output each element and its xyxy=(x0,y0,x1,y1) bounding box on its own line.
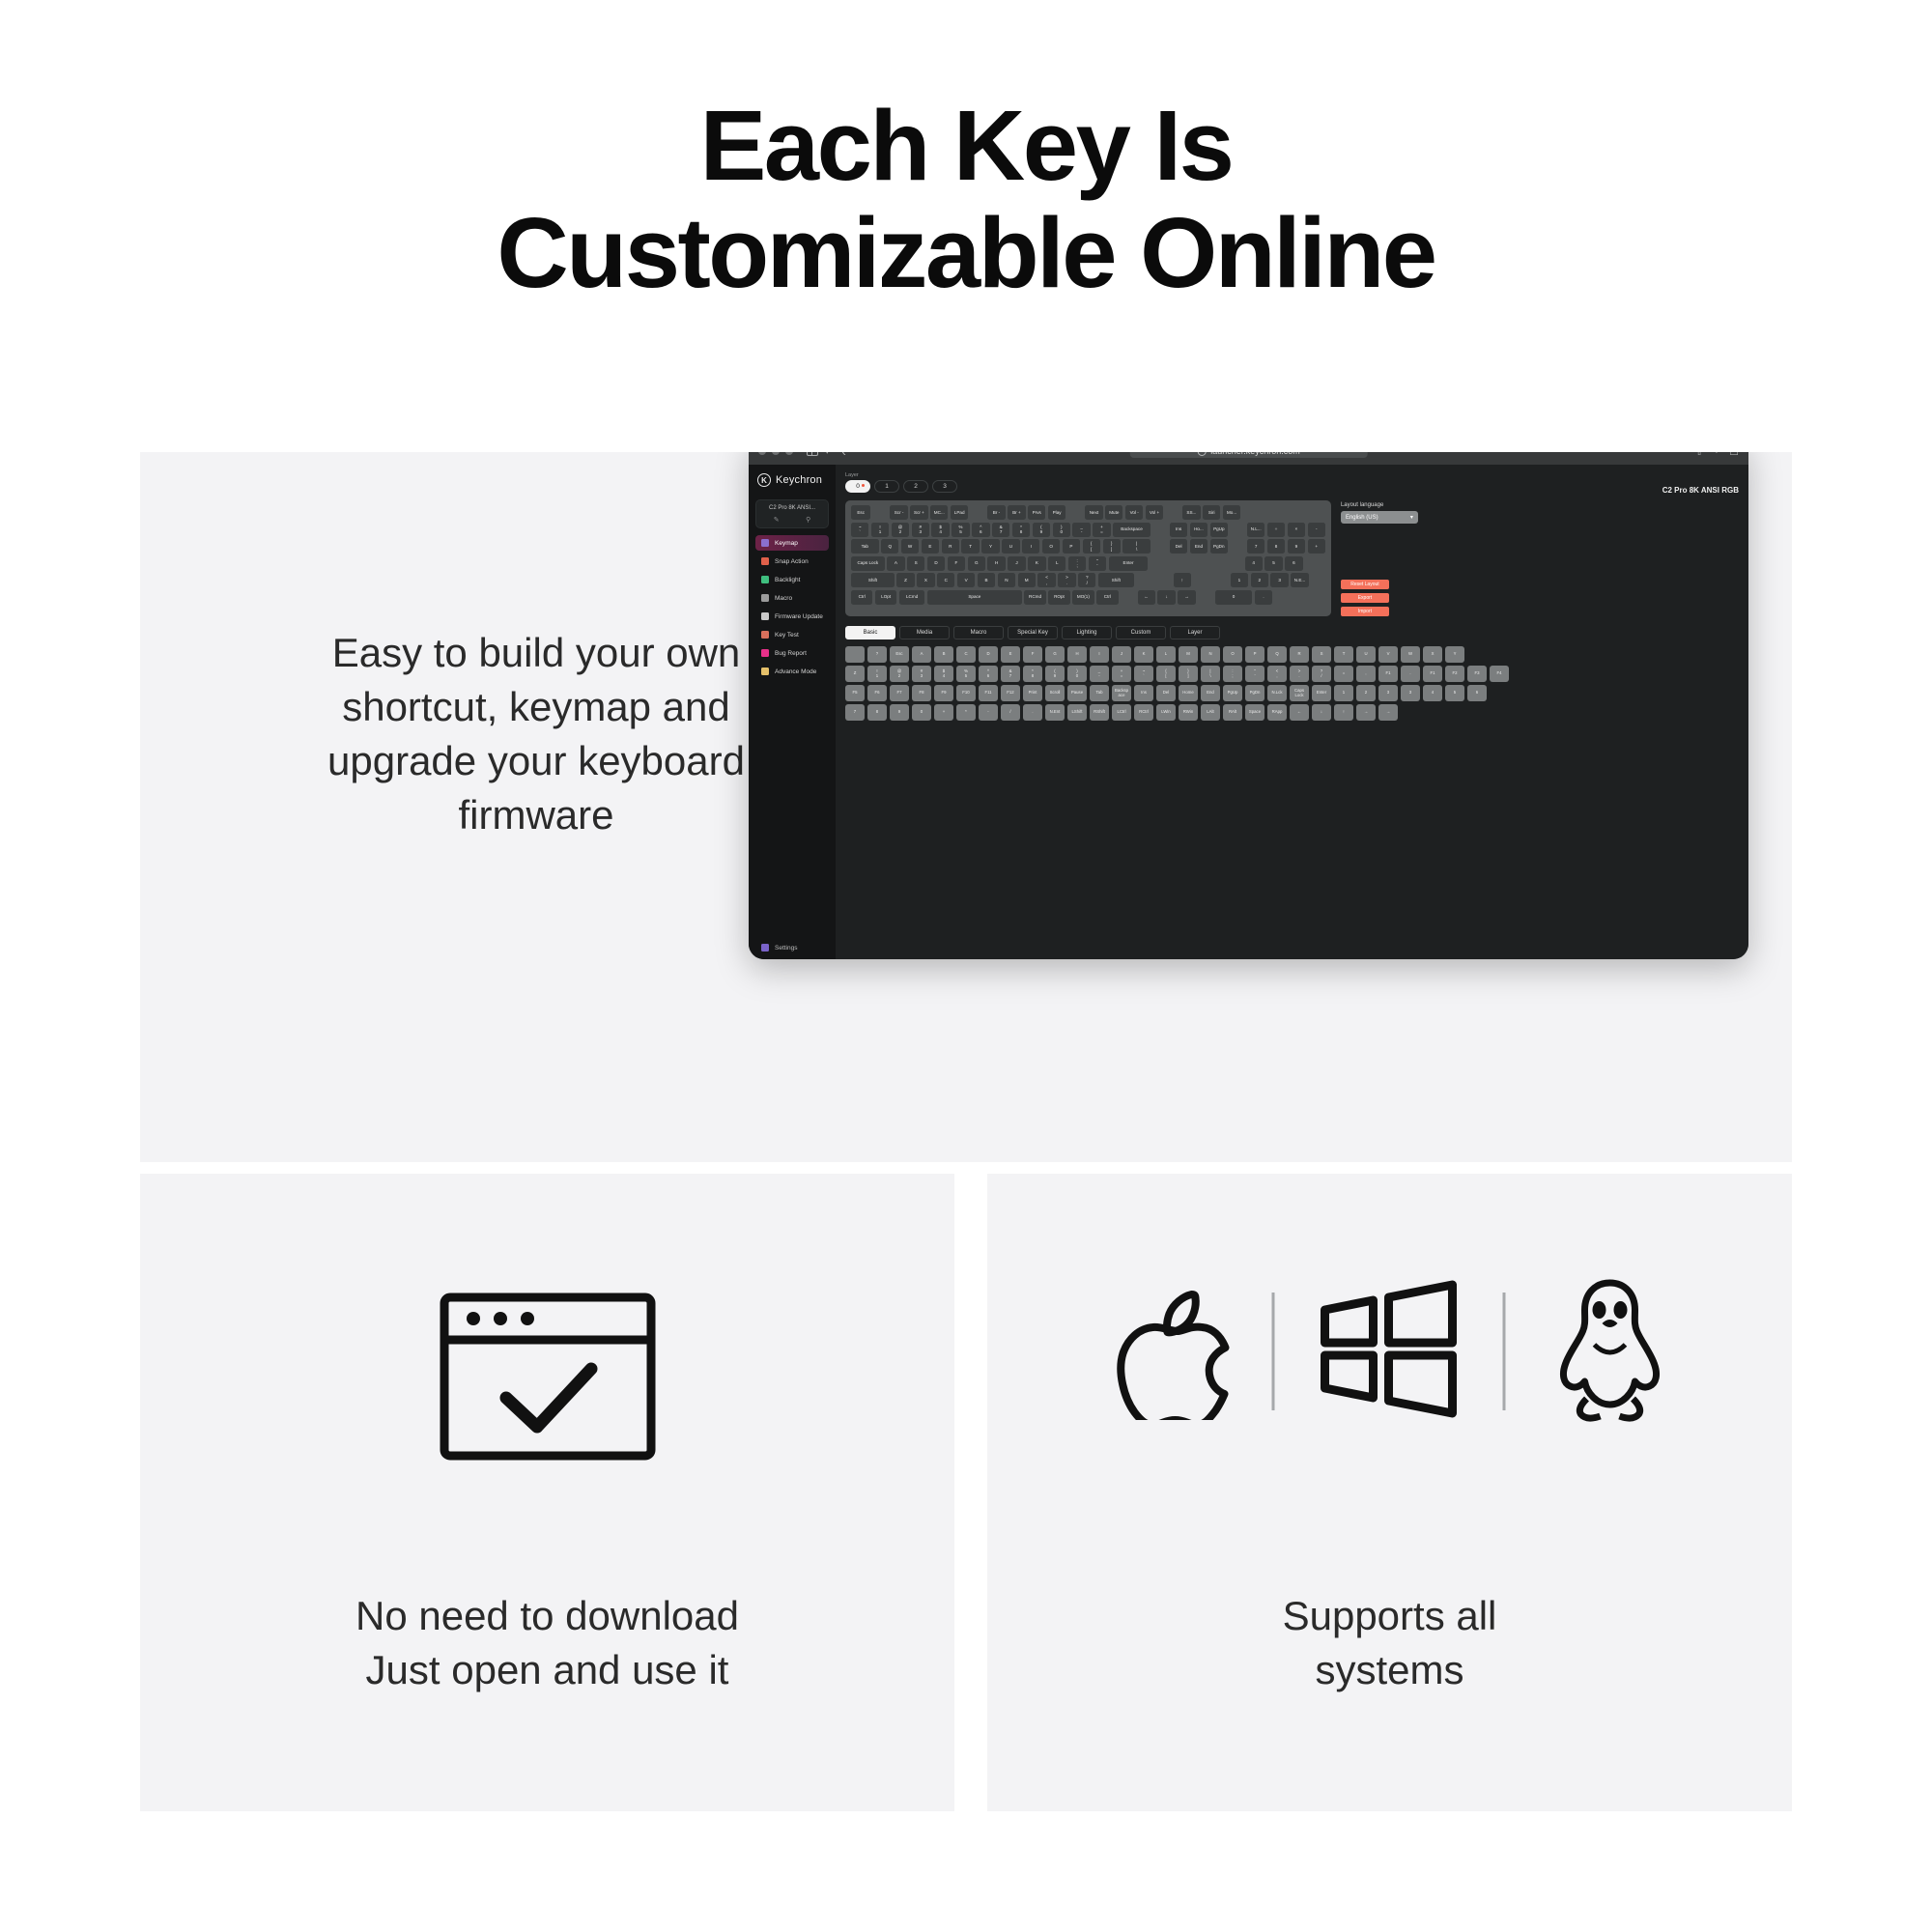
keyboard-key[interactable]: . xyxy=(1255,590,1272,605)
palette-key[interactable]: 8 xyxy=(867,704,887,721)
layout-language-select[interactable]: English (US) ▾ xyxy=(1341,511,1418,524)
keyboard-key[interactable]: 8 xyxy=(1267,539,1285,554)
site-info-icon xyxy=(1197,452,1206,456)
keyboard-key[interactable]: N.E... xyxy=(1291,573,1308,587)
macro-icon xyxy=(761,594,769,602)
edit-pencil-icon[interactable]: ✎ xyxy=(774,516,780,524)
keyboard-key[interactable]: E xyxy=(922,539,939,554)
palette-row: ?EscABCDEFGHIJKLMNOPQRSTUVWXY xyxy=(845,646,1739,663)
import-button[interactable]: Import xyxy=(1341,607,1389,616)
palette-key[interactable]: | \ xyxy=(1201,666,1220,682)
close-window-button[interactable] xyxy=(758,452,766,455)
palette-key[interactable]: * 8 xyxy=(1023,666,1042,682)
bulb-icon xyxy=(761,576,769,583)
keyboard-key[interactable]: H xyxy=(987,556,1005,571)
keyboard-key[interactable]: Vol - xyxy=(1125,505,1143,520)
keyboard-key[interactable]: ? / xyxy=(1078,573,1095,587)
keyboard-key[interactable]: | \ xyxy=(1122,539,1151,554)
new-tab-icon[interactable]: + xyxy=(1714,452,1719,457)
palette-key[interactable]: F10 xyxy=(956,685,976,701)
keyboard-key[interactable]: Mute xyxy=(1105,505,1122,520)
keyboard-key[interactable]: Ctrl xyxy=(1096,590,1118,605)
keyboard-key[interactable]: U xyxy=(1002,539,1019,554)
keyboard-key[interactable]: R xyxy=(942,539,959,554)
palette-key[interactable]: ↓ xyxy=(1312,704,1331,721)
palette-key[interactable]: N.Ent xyxy=(1045,704,1065,721)
palette-key[interactable]: Tab xyxy=(1090,685,1109,701)
keyboard-key[interactable]: Space xyxy=(927,590,1022,605)
keyboard-key[interactable]: LOpt xyxy=(875,590,896,605)
keyboard-key[interactable]: F xyxy=(948,556,965,571)
reset-layout-button[interactable]: Reset Layout xyxy=(1341,580,1389,589)
minimize-window-button[interactable] xyxy=(772,452,780,455)
keyboard-key[interactable]: ! 1 xyxy=(871,523,889,537)
keyboard-key[interactable]: PgUp xyxy=(1210,523,1228,537)
connected-keyboard-actions[interactable]: ✎ ⚲ xyxy=(760,516,824,524)
keyboard-key[interactable]: × xyxy=(1288,523,1305,537)
palette-key[interactable]: _ - xyxy=(1090,666,1109,682)
palette-key[interactable]: E xyxy=(1001,646,1020,663)
sidebar-item-keymap[interactable]: Keymap xyxy=(755,535,829,551)
sidebar-item-advance-mode[interactable]: Advance Mode xyxy=(755,664,829,679)
keyboard-key[interactable]: Tab xyxy=(851,539,879,554)
keyboard-key[interactable]: # 3 xyxy=(912,523,929,537)
palette-key[interactable]: Del xyxy=(1156,685,1176,701)
palette-key[interactable]: F12 xyxy=(1001,685,1020,701)
keyboard-key[interactable]: D xyxy=(927,556,945,571)
keyboard-key[interactable]: Siri xyxy=(1203,505,1220,520)
palette-key[interactable]: RShift xyxy=(1090,704,1109,721)
layout-action-buttons[interactable]: Reset LayoutExportImport xyxy=(1341,580,1389,616)
sidebar-nav[interactable]: KeymapSnap ActionBacklightMacroFirmware … xyxy=(749,535,836,679)
keyboard-key[interactable]: T xyxy=(961,539,979,554)
palette-key[interactable]: # 3 xyxy=(912,666,931,682)
keyboard-key[interactable]: S xyxy=(907,556,924,571)
keyboard-key[interactable]: ← xyxy=(1138,590,1155,605)
palette-key[interactable]: } ] xyxy=(1179,666,1198,682)
keyboard-key[interactable]: MC... xyxy=(930,505,948,520)
keyboard-key[interactable]: Shift xyxy=(1098,573,1134,587)
keyboard-key[interactable]: ) 0 xyxy=(1053,523,1070,537)
palette-key[interactable]: 6 xyxy=(1467,685,1487,701)
palette-key[interactable]: → xyxy=(1378,704,1398,721)
palette-key[interactable]: D xyxy=(979,646,998,663)
palette-key[interactable]: L xyxy=(1156,646,1176,663)
palette-key[interactable]: : ; xyxy=(1223,666,1242,682)
keyboard-key[interactable]: 6 xyxy=(1285,556,1302,571)
palette-key[interactable]: P xyxy=(1245,646,1264,663)
keyboard-key[interactable]: 5 xyxy=(1264,556,1282,571)
palette-key[interactable]: PgUp xyxy=(1223,685,1242,701)
keyboard-key[interactable]: 2 xyxy=(1251,573,1268,587)
palette-key[interactable]: F6 xyxy=(867,685,887,701)
options-pane: Layout language English (US) ▾ Reset Lay… xyxy=(1341,500,1486,616)
palette-key[interactable]: ? / xyxy=(1312,666,1331,682)
palette-key[interactable]: RApp xyxy=(1267,704,1287,721)
palette-key[interactable]: . xyxy=(1401,666,1420,682)
tab-media[interactable]: Media xyxy=(899,626,950,639)
keyboard-key[interactable]: Mo... xyxy=(1223,505,1240,520)
os-logo-row xyxy=(1108,1275,1671,1427)
palette-key[interactable]: S xyxy=(1312,646,1331,663)
sidebar-item-snap-action[interactable]: Snap Action xyxy=(755,554,829,569)
keyboard-key[interactable]: Del xyxy=(1170,539,1187,554)
tab-overview-icon[interactable]: ☐ xyxy=(1729,452,1739,458)
keyboard-key[interactable]: Q xyxy=(881,539,898,554)
palette-key[interactable]: > . xyxy=(1290,666,1309,682)
layer-tabs[interactable]: 0123 xyxy=(845,480,957,493)
palette-key[interactable]: J xyxy=(1112,646,1131,663)
palette-key[interactable]: / xyxy=(1001,704,1020,721)
keyboard-key[interactable]: } ] xyxy=(1103,539,1121,554)
palette-key[interactable]: F4 xyxy=(1490,666,1509,682)
keyboard-model-title: C2 Pro 8K ANSI RGB xyxy=(1662,486,1739,495)
keyboard-key[interactable]: Scr + xyxy=(910,505,927,520)
sidebar-item-firmware-update[interactable]: Firmware Update xyxy=(755,609,829,624)
palette-key[interactable]: LWin xyxy=(1156,704,1176,721)
keyboard-key[interactable]: Ins xyxy=(1170,523,1187,537)
sidebar-item-label: Key Test xyxy=(775,632,799,639)
keyboard-key[interactable]: I xyxy=(1022,539,1039,554)
keyboard-key[interactable]: < , xyxy=(1037,573,1055,587)
palette-key[interactable]: . xyxy=(1023,704,1042,721)
keyboard-key[interactable]: ^ 6 xyxy=(972,523,989,537)
export-button[interactable]: Export xyxy=(1341,593,1389,603)
keyboard-key[interactable]: Vol + xyxy=(1146,505,1163,520)
palette-key[interactable]: 5 xyxy=(1445,685,1464,701)
keyboard-row: ShiftZXCVBNM< ,> .? /Shift↑123N.E... xyxy=(851,573,1325,587)
palette-key[interactable]: T xyxy=(1334,646,1353,663)
palette-key[interactable]: 9 xyxy=(890,704,909,721)
keyboard-key[interactable]: K xyxy=(1028,556,1045,571)
palette-key[interactable]: LShift xyxy=(1067,704,1087,721)
keycode-category-tabs[interactable]: BasicMediaMacroSpecial KeyLightingCustom… xyxy=(845,626,1739,639)
keyboard-key[interactable]: M xyxy=(1018,573,1036,587)
keyboard-key[interactable]: C xyxy=(937,573,954,587)
share-icon[interactable]: ⇮ xyxy=(1694,452,1703,458)
window-traffic-lights[interactable] xyxy=(758,452,793,455)
keyboard-key[interactable]: Enter xyxy=(1109,556,1149,571)
keyboard-key[interactable]: Prvs xyxy=(1028,505,1045,520)
sidebar-item-macro[interactable]: Macro xyxy=(755,590,829,606)
palette-key[interactable]: U xyxy=(1356,646,1376,663)
palette-key[interactable]: K xyxy=(1134,646,1153,663)
feature-panel-top: Easy to build your own shortcut, keymap … xyxy=(140,452,1792,1162)
palette-key[interactable]: F8 xyxy=(912,685,931,701)
sidebar-item-settings[interactable]: Settings xyxy=(749,936,836,959)
keyboard-key[interactable]: 7 xyxy=(1247,539,1264,554)
back-arrow-icon[interactable]: ‹ xyxy=(842,452,846,459)
layer-tab-3[interactable]: 3 xyxy=(932,480,957,493)
keyboard-key[interactable]: A xyxy=(887,556,904,571)
layer-tab-1[interactable]: 1 xyxy=(874,480,899,493)
palette-key[interactable]: ^ 6 xyxy=(979,666,998,682)
keyboard-key[interactable]: _ - xyxy=(1072,523,1090,537)
palette-key[interactable]: 1 xyxy=(1334,685,1353,701)
keyboard-key[interactable]: ÷ xyxy=(1267,523,1285,537)
palette-key[interactable]: ? xyxy=(867,646,887,663)
palette-key[interactable]: @ 2 xyxy=(890,666,909,682)
gear-icon xyxy=(761,944,769,952)
palette-key[interactable]: Z xyxy=(845,666,865,682)
palette-key[interactable]: M xyxy=(1179,646,1198,663)
keyboard-key[interactable]: Esc xyxy=(851,505,870,520)
palette-key[interactable]: X xyxy=(1423,646,1442,663)
supports-caption-line-2: systems xyxy=(1315,1647,1463,1692)
palette-key[interactable]: ~ ` xyxy=(1134,666,1153,682)
palette-key[interactable]: Enter xyxy=(1312,685,1331,701)
keyboard-key[interactable]: ↑ xyxy=(1174,573,1191,587)
palette-key[interactable]: PgDn xyxy=(1245,685,1264,701)
tab-layer[interactable]: Layer xyxy=(1170,626,1220,639)
keyboard-key[interactable]: 9 xyxy=(1288,539,1305,554)
sidebar-item-key-test[interactable]: Key Test xyxy=(755,627,829,642)
palette-key[interactable]: ← xyxy=(1290,704,1309,721)
palette-key[interactable]: Print xyxy=(1023,685,1042,701)
palette-key[interactable]: H xyxy=(1067,646,1087,663)
palette-key[interactable]: & 7 xyxy=(1001,666,1020,682)
keyboard-key[interactable]: B xyxy=(978,573,995,587)
palette-key[interactable]: , xyxy=(1356,666,1376,682)
palette-key[interactable]: { [ xyxy=(1156,666,1176,682)
palette-key[interactable]: + = xyxy=(1112,666,1131,682)
keyboard-key[interactable]: P xyxy=(1063,539,1080,554)
palette-key[interactable]: F7 xyxy=(890,685,909,701)
keyboard-key[interactable]: Z xyxy=(896,573,914,587)
browser-chrome-bar: ▾ ‹ launcher.keychron.com ⇮ + ☐ xyxy=(749,452,1748,465)
keyboard-key[interactable]: N xyxy=(998,573,1015,587)
keyboard-key[interactable]: 1 xyxy=(1231,573,1248,587)
palette-key[interactable]: LCtrl xyxy=(1112,704,1131,721)
palette-key[interactable]: F1 xyxy=(1378,666,1398,682)
keyboard-row: TabQWERTYUIOP{ [} ]| \DelEndPgDn789+ xyxy=(851,539,1325,554)
keyboard-key[interactable]: 4 xyxy=(1245,556,1263,571)
keyboard-key[interactable]: W xyxy=(901,539,919,554)
palette-key[interactable]: Home xyxy=(1179,685,1198,701)
keyboard-key[interactable]: 0 xyxy=(1215,590,1253,605)
sidebar-item-bug-report[interactable]: Bug Report xyxy=(755,645,829,661)
browser-right-icons[interactable]: ⇮ + ☐ xyxy=(1694,452,1739,458)
palette-key[interactable]: Scroll xyxy=(1045,685,1065,701)
palette-key[interactable]: = xyxy=(1334,666,1353,682)
palette-key[interactable]: ( 9 xyxy=(1045,666,1065,682)
keyboard-key[interactable]: Play xyxy=(1048,505,1065,520)
palette-key[interactable]: N.Lck xyxy=(1267,685,1287,701)
keychron-launcher-app: K Keychron C2 Pro 8K ANSI... ✎ ⚲ KeymapS… xyxy=(749,465,1748,959)
palette-key[interactable]: C xyxy=(956,646,976,663)
palette-key[interactable]: End xyxy=(1201,685,1220,701)
layer-selector[interactable]: Layer 0123 xyxy=(845,472,957,493)
keyboard-key[interactable]: { [ xyxy=(1083,539,1100,554)
keyboard-visual[interactable]: EscScr -Scr +MC...LPadBr -Br +PrvsPlayNe… xyxy=(845,500,1331,616)
palette-key[interactable]: W xyxy=(1401,646,1420,663)
palette-key[interactable]: 3 xyxy=(1378,685,1398,701)
tab-custom[interactable]: Custom xyxy=(1116,626,1166,639)
palette-key[interactable]: B xyxy=(934,646,953,663)
advance-icon xyxy=(761,668,769,675)
connected-keyboard-card[interactable]: C2 Pro 8K ANSI... ✎ ⚲ xyxy=(755,499,829,528)
palette-key[interactable]: A xyxy=(912,646,931,663)
keyboard-key[interactable]: → xyxy=(1178,590,1195,605)
palette-key[interactable]: F11 xyxy=(979,685,998,701)
logo-divider xyxy=(1271,1293,1274,1410)
keyboard-key[interactable]: @ 2 xyxy=(892,523,909,537)
palette-key[interactable]: ! 1 xyxy=(867,666,887,682)
hero-line-2: Customizable Online xyxy=(497,197,1435,308)
sidebar-item-label: Advance Mode xyxy=(775,668,816,675)
no-download-caption-line-2: Just open and use it xyxy=(366,1647,729,1692)
keyboard-key[interactable]: % 5 xyxy=(952,523,969,537)
palette-key[interactable]: V xyxy=(1378,646,1398,663)
keyboard-key[interactable]: Shift xyxy=(851,573,895,587)
palette-key[interactable]: " ' xyxy=(1245,666,1264,682)
palette-key[interactable]: Ins xyxy=(1134,685,1153,701)
palette-key[interactable]: F3 xyxy=(1467,666,1487,682)
keychron-logo-icon: K xyxy=(757,473,771,487)
palette-key[interactable]: < , xyxy=(1267,666,1287,682)
palette-key[interactable]: → xyxy=(1356,704,1376,721)
palette-key[interactable]: ↑ xyxy=(1334,704,1353,721)
palette-key[interactable]: F9 xyxy=(934,685,953,701)
keyboard-key[interactable]: Br - xyxy=(987,505,1005,520)
keyboard-key[interactable]: ROpt xyxy=(1048,590,1069,605)
palette-key[interactable] xyxy=(845,646,865,663)
palette-key[interactable]: RWin xyxy=(1179,704,1198,721)
windows-logo-icon xyxy=(1317,1279,1460,1424)
keyboard-key[interactable]: : ; xyxy=(1068,556,1086,571)
maximize-window-button[interactable] xyxy=(785,452,793,455)
bug-icon xyxy=(761,649,769,657)
app-main: Layer 0123 C2 Pro 8K ANSI RGB EscScr -Sc… xyxy=(836,465,1748,959)
browser-nav-icons[interactable]: ▾ ‹ xyxy=(807,452,846,459)
browser-check-icon xyxy=(437,1290,659,1468)
keyboard-key[interactable]: + xyxy=(1308,539,1325,554)
keyboard-key[interactable]: Ctrl xyxy=(851,590,872,605)
palette-key[interactable]: Space xyxy=(1245,704,1264,721)
keycode-palette[interactable]: ?EscABCDEFGHIJKLMNOPQRSTUVWXYZ! 1@ 2# 3$… xyxy=(845,646,1739,721)
palette-key[interactable]: 7 xyxy=(845,704,865,721)
keyboard-key[interactable]: + = xyxy=(1093,523,1110,537)
keyboard-key[interactable]: N.L... xyxy=(1247,523,1264,537)
keyboard-key[interactable]: RCmd xyxy=(1024,590,1045,605)
palette-key[interactable]: RCtrl xyxy=(1134,704,1153,721)
palette-key[interactable]: Pause xyxy=(1067,685,1087,701)
keyboard-key[interactable]: Scr - xyxy=(890,505,907,520)
keyboard-key[interactable]: Next xyxy=(1085,505,1102,520)
palette-key[interactable]: Esc xyxy=(890,646,909,663)
keyboard-key[interactable]: J xyxy=(1008,556,1025,571)
keyboard-key[interactable]: Ho... xyxy=(1190,523,1207,537)
palette-key[interactable]: * xyxy=(956,704,976,721)
palette-key[interactable]: F1 xyxy=(1423,666,1442,682)
keyboard-spacer xyxy=(1151,556,1165,571)
palette-key[interactable]: 4 xyxy=(1423,685,1442,701)
palette-key[interactable]: Q xyxy=(1267,646,1287,663)
palette-key[interactable]: RAlt xyxy=(1223,704,1242,721)
palette-key[interactable]: Backsp ace xyxy=(1112,685,1131,701)
palette-key[interactable]: R xyxy=(1290,646,1309,663)
keyboard-key[interactable]: Caps Lock xyxy=(851,556,885,571)
keyboard-key[interactable]: Backspace xyxy=(1113,523,1151,537)
keyboard-key[interactable]: $ 4 xyxy=(931,523,949,537)
layout-language-value: English (US) xyxy=(1346,515,1378,521)
keyboard-key[interactable]: > . xyxy=(1058,573,1075,587)
palette-key[interactable]: 0 xyxy=(912,704,931,721)
keyboard-key[interactable]: SS... xyxy=(1182,505,1200,520)
palette-key[interactable]: ) 0 xyxy=(1067,666,1087,682)
keyboard-key[interactable]: O xyxy=(1042,539,1060,554)
keyboard-key[interactable]: ~ ` xyxy=(851,523,868,537)
keyboard-spacer xyxy=(971,505,985,520)
keyboard-key[interactable]: End xyxy=(1190,539,1207,554)
link-icon[interactable]: ⚲ xyxy=(806,516,810,524)
keyboard-key[interactable]: * 8 xyxy=(1012,523,1030,537)
tab-lighting[interactable]: Lighting xyxy=(1062,626,1112,639)
page-root: Each Key Is Customizable Online Easy to … xyxy=(0,0,1932,1932)
keyboard-row: Caps LockASDFGHJKL: ;" 'Enter456 xyxy=(851,556,1325,571)
palette-key[interactable]: F xyxy=(1023,646,1042,663)
keyboard-key[interactable]: ↓ xyxy=(1157,590,1175,605)
palette-key[interactable]: O xyxy=(1223,646,1242,663)
keyboard-spacer xyxy=(1136,573,1151,587)
tab-special-key[interactable]: Special Key xyxy=(1008,626,1058,639)
palette-key[interactable]: F2 xyxy=(1445,666,1464,682)
keyboard-spacer xyxy=(1152,523,1167,537)
palette-key[interactable]: G xyxy=(1045,646,1065,663)
palette-key[interactable]: Caps Lock xyxy=(1290,685,1309,701)
keyboard-key[interactable]: 3 xyxy=(1270,573,1288,587)
keyboard-key[interactable]: PgDn xyxy=(1210,539,1228,554)
keyboard-key[interactable]: G xyxy=(968,556,985,571)
palette-row: Z! 1@ 2# 3$ 4% 5^ 6& 7* 8( 9) 0_ -+ =~ `… xyxy=(845,666,1739,682)
keyboard-key[interactable]: Y xyxy=(981,539,999,554)
keyboard-key[interactable]: X xyxy=(917,573,934,587)
keyboard-key[interactable]: MO(1) xyxy=(1072,590,1094,605)
palette-key[interactable]: F5 xyxy=(845,685,865,701)
palette-key[interactable]: 2 xyxy=(1356,685,1376,701)
keyboard-key[interactable]: L xyxy=(1048,556,1065,571)
sidebar-item-backlight[interactable]: Backlight xyxy=(755,572,829,587)
tab-macro[interactable]: Macro xyxy=(953,626,1004,639)
sidebar-toggle-icon[interactable] xyxy=(807,452,818,456)
keyboard-key[interactable]: V xyxy=(957,573,975,587)
keyboard-key[interactable]: - xyxy=(1308,523,1325,537)
keyboard-key[interactable]: & 7 xyxy=(992,523,1009,537)
palette-key[interactable]: + xyxy=(934,704,953,721)
palette-key[interactable]: $ 4 xyxy=(934,666,953,682)
palette-key[interactable]: N xyxy=(1201,646,1220,663)
linux-penguin-icon xyxy=(1548,1275,1671,1427)
palette-key[interactable]: Y xyxy=(1445,646,1464,663)
keyboard-key[interactable]: " ' xyxy=(1089,556,1106,571)
chevron-down-icon[interactable]: ▾ xyxy=(825,452,830,457)
keyboard-key[interactable]: LPad xyxy=(951,505,968,520)
layer-tab-2[interactable]: 2 xyxy=(903,480,928,493)
palette-key[interactable]: I xyxy=(1090,646,1109,663)
keyboard-key[interactable]: Br + xyxy=(1008,505,1025,520)
tab-basic[interactable]: Basic xyxy=(845,626,895,639)
keyboard-key[interactable]: ( 9 xyxy=(1033,523,1050,537)
palette-key[interactable]: - xyxy=(979,704,998,721)
layer-tab-0[interactable]: 0 xyxy=(845,480,870,493)
address-bar[interactable]: launcher.keychron.com xyxy=(1129,452,1368,458)
palette-key[interactable]: % 5 xyxy=(956,666,976,682)
keyboard-key[interactable]: LCmd xyxy=(899,590,925,605)
layout-language-label: Layout language xyxy=(1341,502,1486,508)
palette-key[interactable]: 3 xyxy=(1401,685,1420,701)
palette-key[interactable]: LAlt xyxy=(1201,704,1220,721)
keytest-icon xyxy=(761,631,769,639)
